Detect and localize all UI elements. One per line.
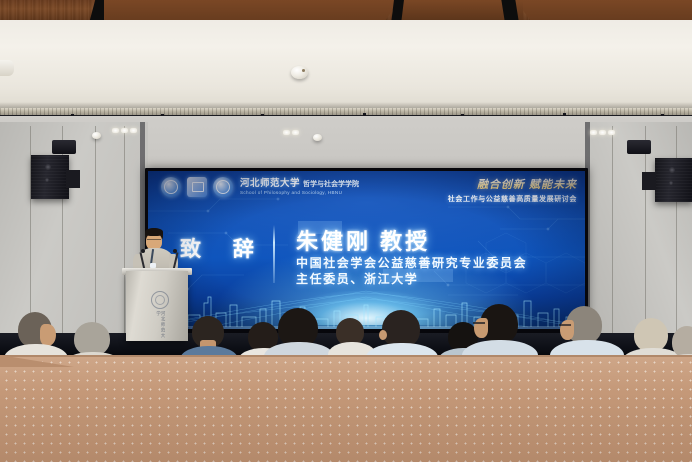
recessed-light-icon xyxy=(112,128,119,133)
speaker-driver xyxy=(669,167,675,173)
speaker-driver xyxy=(45,164,51,170)
pa-speaker-right xyxy=(655,158,692,202)
podium-vertical-text: 河北师范大学 xyxy=(153,311,165,341)
conference-hall-photo: 河北师范大学 哲学与社会学学院 School of Philosophy and… xyxy=(0,0,692,462)
audience-head xyxy=(634,318,668,352)
speaker-grill xyxy=(655,158,692,202)
microphone-head-left xyxy=(141,249,145,253)
recessed-light-icon xyxy=(590,130,597,135)
smoke-detector-icon xyxy=(291,66,308,79)
recessed-light-icon xyxy=(121,128,128,133)
audience-ear xyxy=(379,330,387,340)
microphone-head-right xyxy=(173,249,177,253)
speaker-driver xyxy=(669,181,673,185)
projector-left xyxy=(52,140,76,154)
screen-vignette xyxy=(148,171,585,329)
wall-seam xyxy=(124,126,125,354)
panel-shading xyxy=(0,355,692,462)
speaker-grill xyxy=(31,155,69,199)
audience-glasses xyxy=(473,322,485,324)
recessed-light-icon xyxy=(292,130,299,135)
podium: 河北师范大学 xyxy=(126,271,188,341)
ceiling-white-band xyxy=(0,20,692,110)
recessed-light-icon xyxy=(130,128,137,133)
ceiling-dome-light xyxy=(313,134,322,141)
audience-glasses xyxy=(559,324,571,326)
led-screen: 河北师范大学 哲学与社会学学院 School of Philosophy and… xyxy=(148,171,585,329)
podium-emblem-icon xyxy=(151,291,169,309)
ceiling-dome-light xyxy=(92,132,101,139)
ceiling-vent xyxy=(0,60,14,76)
audience-face xyxy=(40,324,56,346)
recessed-light-icon xyxy=(608,130,615,135)
pa-speaker-left xyxy=(31,155,69,199)
pa-speaker-left-sub xyxy=(66,170,80,188)
audience-face xyxy=(474,318,488,338)
foreground-acoustic-panel xyxy=(0,355,692,462)
panel-top-edge xyxy=(0,355,692,357)
speaker-driver xyxy=(45,178,49,182)
recessed-light-icon xyxy=(599,130,606,135)
recessed-light-icon xyxy=(283,130,290,135)
audience-head xyxy=(74,322,110,356)
audience-face xyxy=(560,320,574,340)
pa-speaker-right-sub xyxy=(642,172,656,190)
wall-seam xyxy=(612,126,613,354)
projector-right xyxy=(627,140,651,154)
wall-seam xyxy=(95,126,96,354)
presenter-hair-top xyxy=(145,228,163,236)
smoke-detector-led xyxy=(302,69,305,72)
presenter-glasses xyxy=(147,239,161,243)
